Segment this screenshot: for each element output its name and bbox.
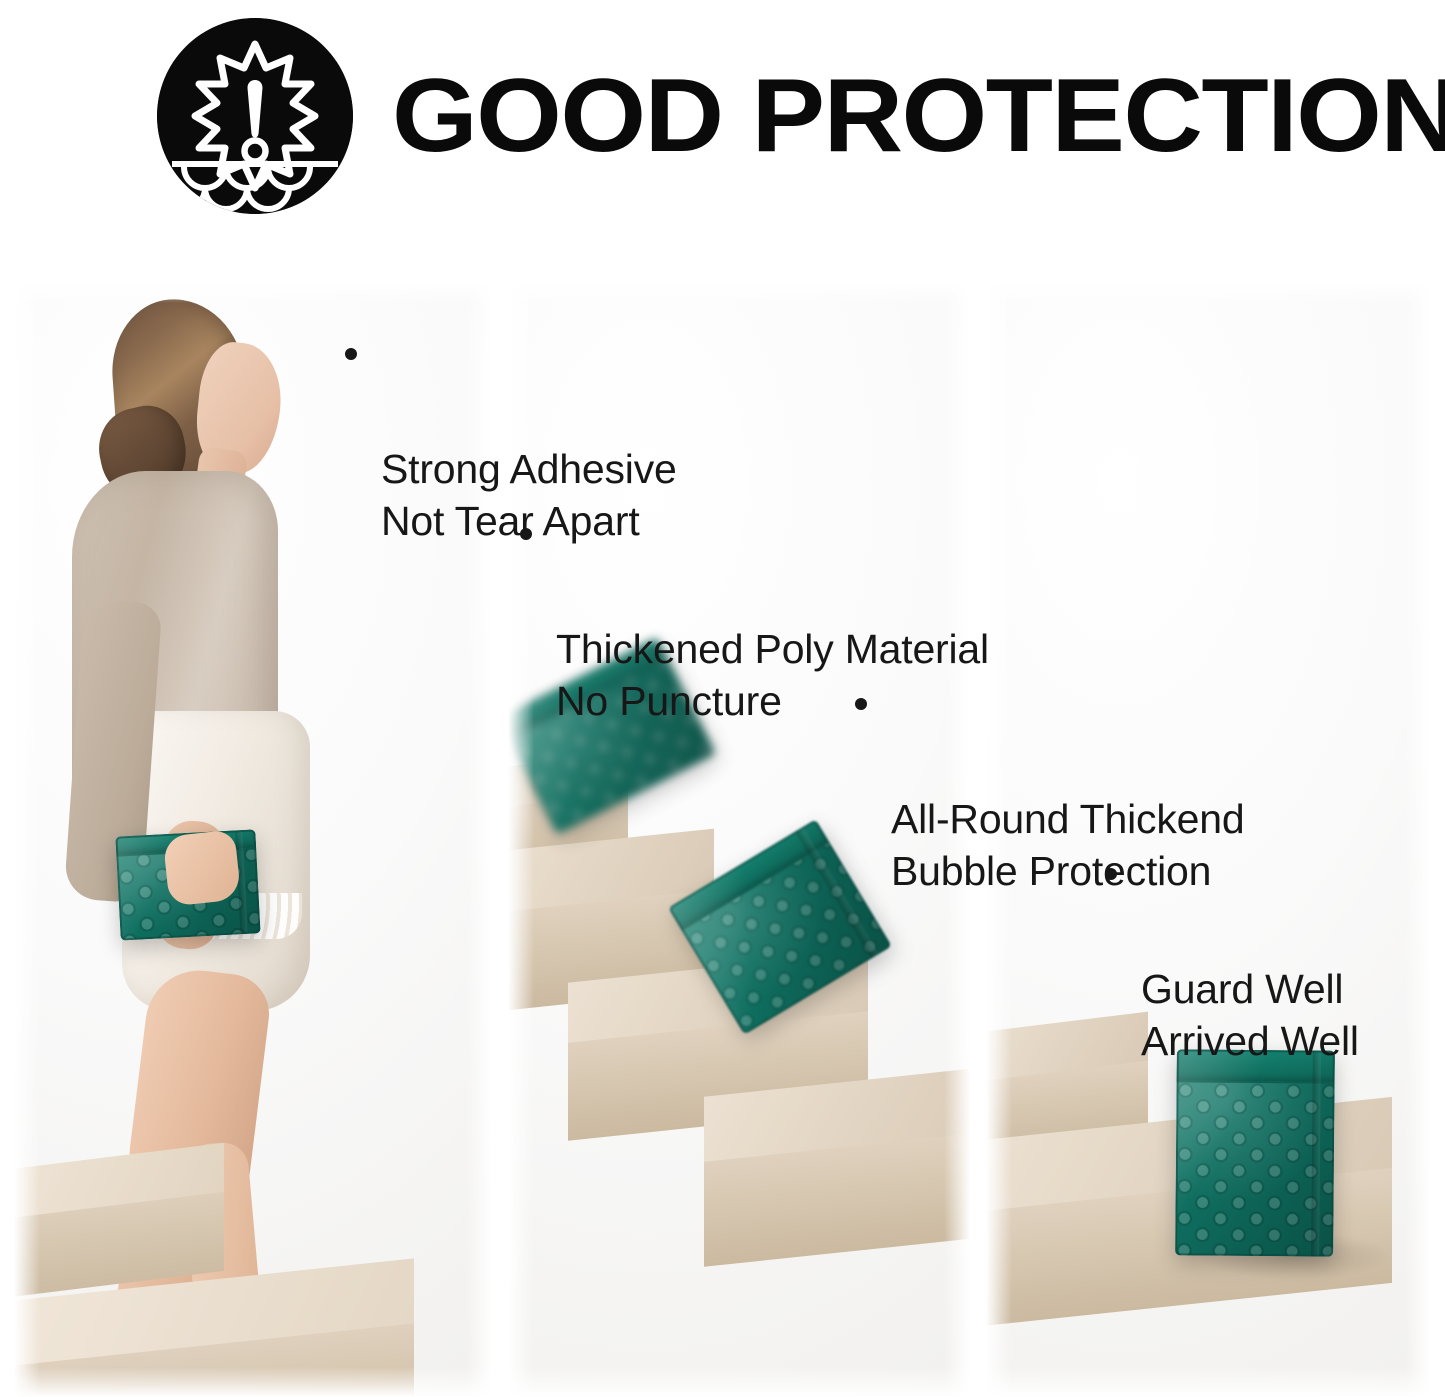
bullet-dot [345, 348, 357, 360]
bullet-dot [855, 698, 867, 710]
header: GOOD PROTECTION [0, 0, 1445, 272]
stair-tread [704, 1065, 970, 1267]
infographic-canvas: GOOD PROTECTION [0, 0, 1445, 1397]
burst-exclamation-bubble-wrap-icon [157, 18, 353, 214]
feature-callout-guard-well-arrived-well: Guard Well Arrived Well [1105, 859, 1435, 1119]
feature-text: Guard Well Arrived Well [1105, 963, 1435, 1067]
page-title: GOOD PROTECTION [392, 52, 1445, 180]
bullet-dot [520, 528, 532, 540]
hand-gripping-mailer [163, 829, 242, 906]
bullet-dot [1105, 868, 1117, 880]
